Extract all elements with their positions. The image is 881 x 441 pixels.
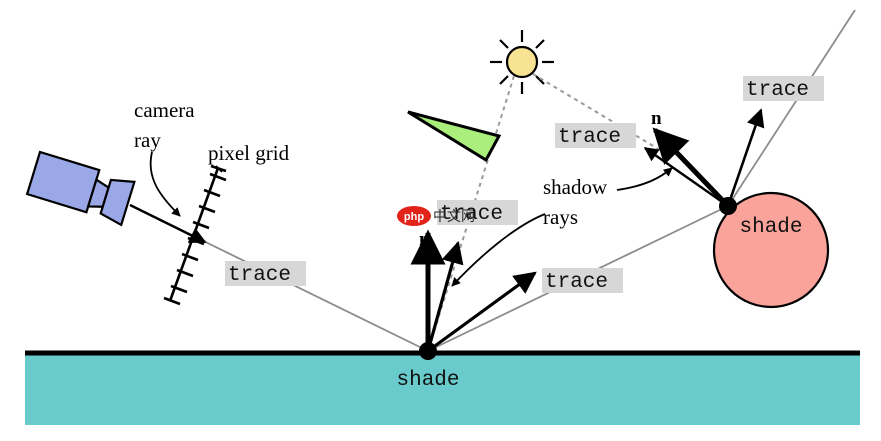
pixel-grid [164, 166, 226, 304]
triangle-object [408, 112, 499, 160]
hit-point-sphere-dot [719, 197, 737, 215]
shadow-rays-label-line1: shadow [543, 175, 608, 199]
ground-hitpoint-vectors [428, 233, 535, 351]
trace-label-sphere-shadow: trace [555, 123, 636, 149]
shadow-rays-label-line2: rays [543, 205, 578, 229]
normal-label-ground: n [419, 229, 430, 250]
camera-icon [27, 152, 135, 225]
trace-label-text: trace [746, 79, 809, 102]
shade-label-ground: shade [396, 369, 459, 392]
shade-label-sphere: shade [739, 216, 802, 239]
ray-tracing-diagram: camera ray pixel grid shadow rays trace … [0, 0, 881, 441]
camera-ray-leader [151, 152, 180, 216]
php-watermark: php 中文网 [397, 206, 475, 226]
sphere-hitpoint-vectors [645, 110, 761, 206]
hit-point-ground-dot [419, 342, 437, 360]
trace-label-text: trace [228, 264, 291, 287]
diagram-canvas: camera ray pixel grid shadow rays trace … [0, 0, 881, 441]
shadow-rays-leader-upper [617, 168, 672, 190]
camera-ray-label-line2: ray [134, 128, 161, 152]
camera-ray-label-line1: camera [134, 98, 195, 122]
watermark-badge-text: php [404, 211, 424, 223]
watermark-site-text: 中文网 [433, 209, 475, 225]
trace-label-camera-ray: trace [225, 261, 306, 287]
normal-label-sphere: n [651, 108, 662, 129]
sun-icon [490, 30, 554, 94]
sphere-reflection-ray-path [728, 10, 855, 206]
trace-label-text: trace [558, 126, 621, 149]
trace-label-sphere-reflect: trace [743, 76, 824, 102]
pixel-grid-label: pixel grid [208, 141, 290, 165]
trace-label-reflection: trace [542, 268, 623, 294]
trace-label-text: trace [545, 271, 608, 294]
